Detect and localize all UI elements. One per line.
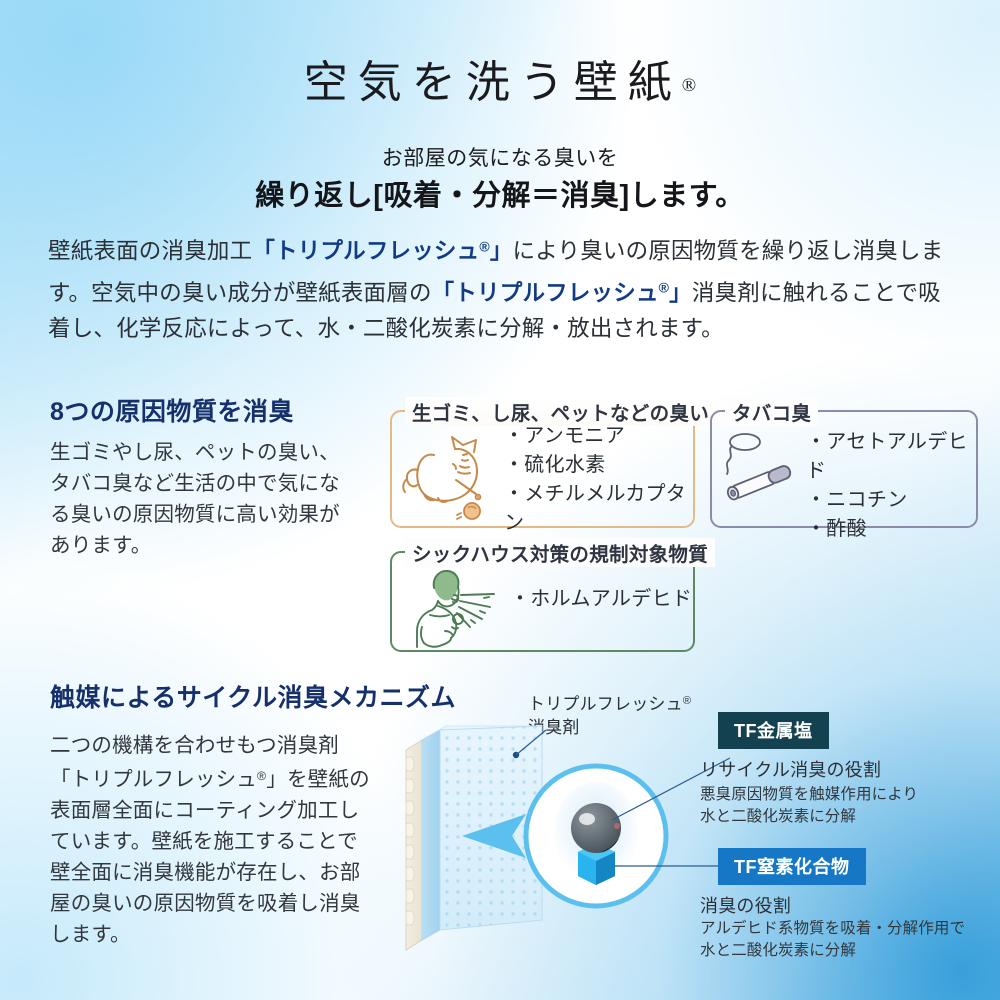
list-item: ・ニコチン [806,486,976,515]
odor-box-tobacco-legend: タバコ臭 [725,397,818,426]
badge-tf-nitrogen-compound: TF窒素化合物 [718,848,866,885]
page-title-text: 空気を洗う壁紙 [304,58,682,107]
list-item: ・アセトアルデヒド [806,428,976,486]
brand-quote-close-2: 」 [669,280,692,305]
desc-tf-nitrogen-compound: アルデヒド系物質を吸着・分解作用で 水と二酸化炭素に分解 [700,918,965,962]
list-item: ・硫化水素 [504,451,693,480]
brand-registered-icon-1: ® [479,238,489,254]
odor-box-tobacco-items: ・アセトアルデヒド ・ニコチン ・酢酸 [806,428,976,544]
desc-line: 悪臭原因物質を触媒作用により [700,784,918,806]
desc-line: アルデヒド系物質を吸着・分解作用で [700,918,965,940]
section-2-paragraph: 二つの機構を合わせもつ消臭剤「トリプルフレッシュ®」を壁紙の表面層全面にコーティ… [50,730,375,950]
odor-box-sick-house-items: ・ホルムアルデヒド [510,585,692,614]
section-1-heading: 8つの原因物質を消臭 [50,392,294,428]
section-2-paragraph-part-b: 」を壁紙の表面層全面にコーティング加工しています。壁紙を施工することで壁全面に消… [50,768,370,946]
role-tf-nitrogen-compound: 消臭の役割 [700,892,791,918]
section-2-heading: 触媒によるサイクル消臭メカニズム [50,678,456,714]
odor-box-sick-house: シックハウス対策の規制対象物質 [390,551,695,652]
desc-tf-metal-salt: 悪臭原因物質を触媒作用により 水と二酸化炭素に分解 [700,784,918,828]
list-item: ・アンモニア [504,422,693,451]
brand-registered-icon-2: ® [659,280,669,296]
infographic-page: 空気を洗う壁紙® お部屋の気になる臭いを 繰り返し[吸着・分解＝消臭]します。 … [0,0,1000,1000]
brand-quote-open-2: 「 [432,280,455,305]
list-item: ・メチルメルカプタン [504,480,693,538]
list-item: ・ホルムアルデヒド [510,585,692,614]
desc-line: 水と二酸化炭素に分解 [700,806,918,828]
role-tf-metal-salt: リサイクル消臭の役割 [700,756,881,782]
brand-quote-close: 」 [490,239,513,264]
brand-registered-icon-4: ® [683,695,691,707]
cat-icon [400,428,500,520]
registered-trademark-icon: ® [682,75,696,96]
diagram-agent-label-part-1: トリプルフレッシュ [528,695,683,714]
odor-box-tobacco: タバコ臭 ・アセトアルデヒド ・ニコチン ・酢酸 [710,410,978,528]
wallpaper-cross-section-illustration [400,724,730,974]
list-item: ・酢酸 [806,515,976,544]
brand-name-1: トリプルフレッシュ [275,239,479,264]
brand-quote-open: 「 [252,239,275,264]
brand-name-2: トリプルフレッシュ [454,280,658,305]
cigarette-icon [718,430,804,506]
lead-paragraph: 壁紙表面の消臭加工「トリプルフレッシュ®」により臭いの原因物質を繰り返し消臭しま… [48,228,953,347]
odor-box-sick-house-legend: シックハウス対策の規制対象物質 [405,538,715,567]
coughing-person-icon [410,565,505,650]
deodorizing-mechanism-diagram: トリプルフレッシュ®消臭剤 [400,686,1000,976]
odor-box-pet: 生ゴミ、し尿、ペットなどの臭い [390,410,695,528]
section-1-paragraph: 生ゴミやし尿、ペットの臭い、タバコ臭など生活の中で気になる臭いの原因物質に高い効… [50,437,350,561]
badge-tf-metal-salt: TF金属塩 [718,712,829,749]
lead-part-1: 壁紙表面の消臭加工 [48,239,252,264]
page-title: 空気を洗う壁紙® [0,46,1000,110]
desc-line: 水と二酸化炭素に分解 [700,940,965,962]
subtitle-line-2: 繰り返し[吸着・分解＝消臭]します。 [0,172,1000,214]
brand-registered-icon-3: ® [257,769,266,783]
subtitle-line-1: お部屋の気になる臭いを [0,142,1000,172]
